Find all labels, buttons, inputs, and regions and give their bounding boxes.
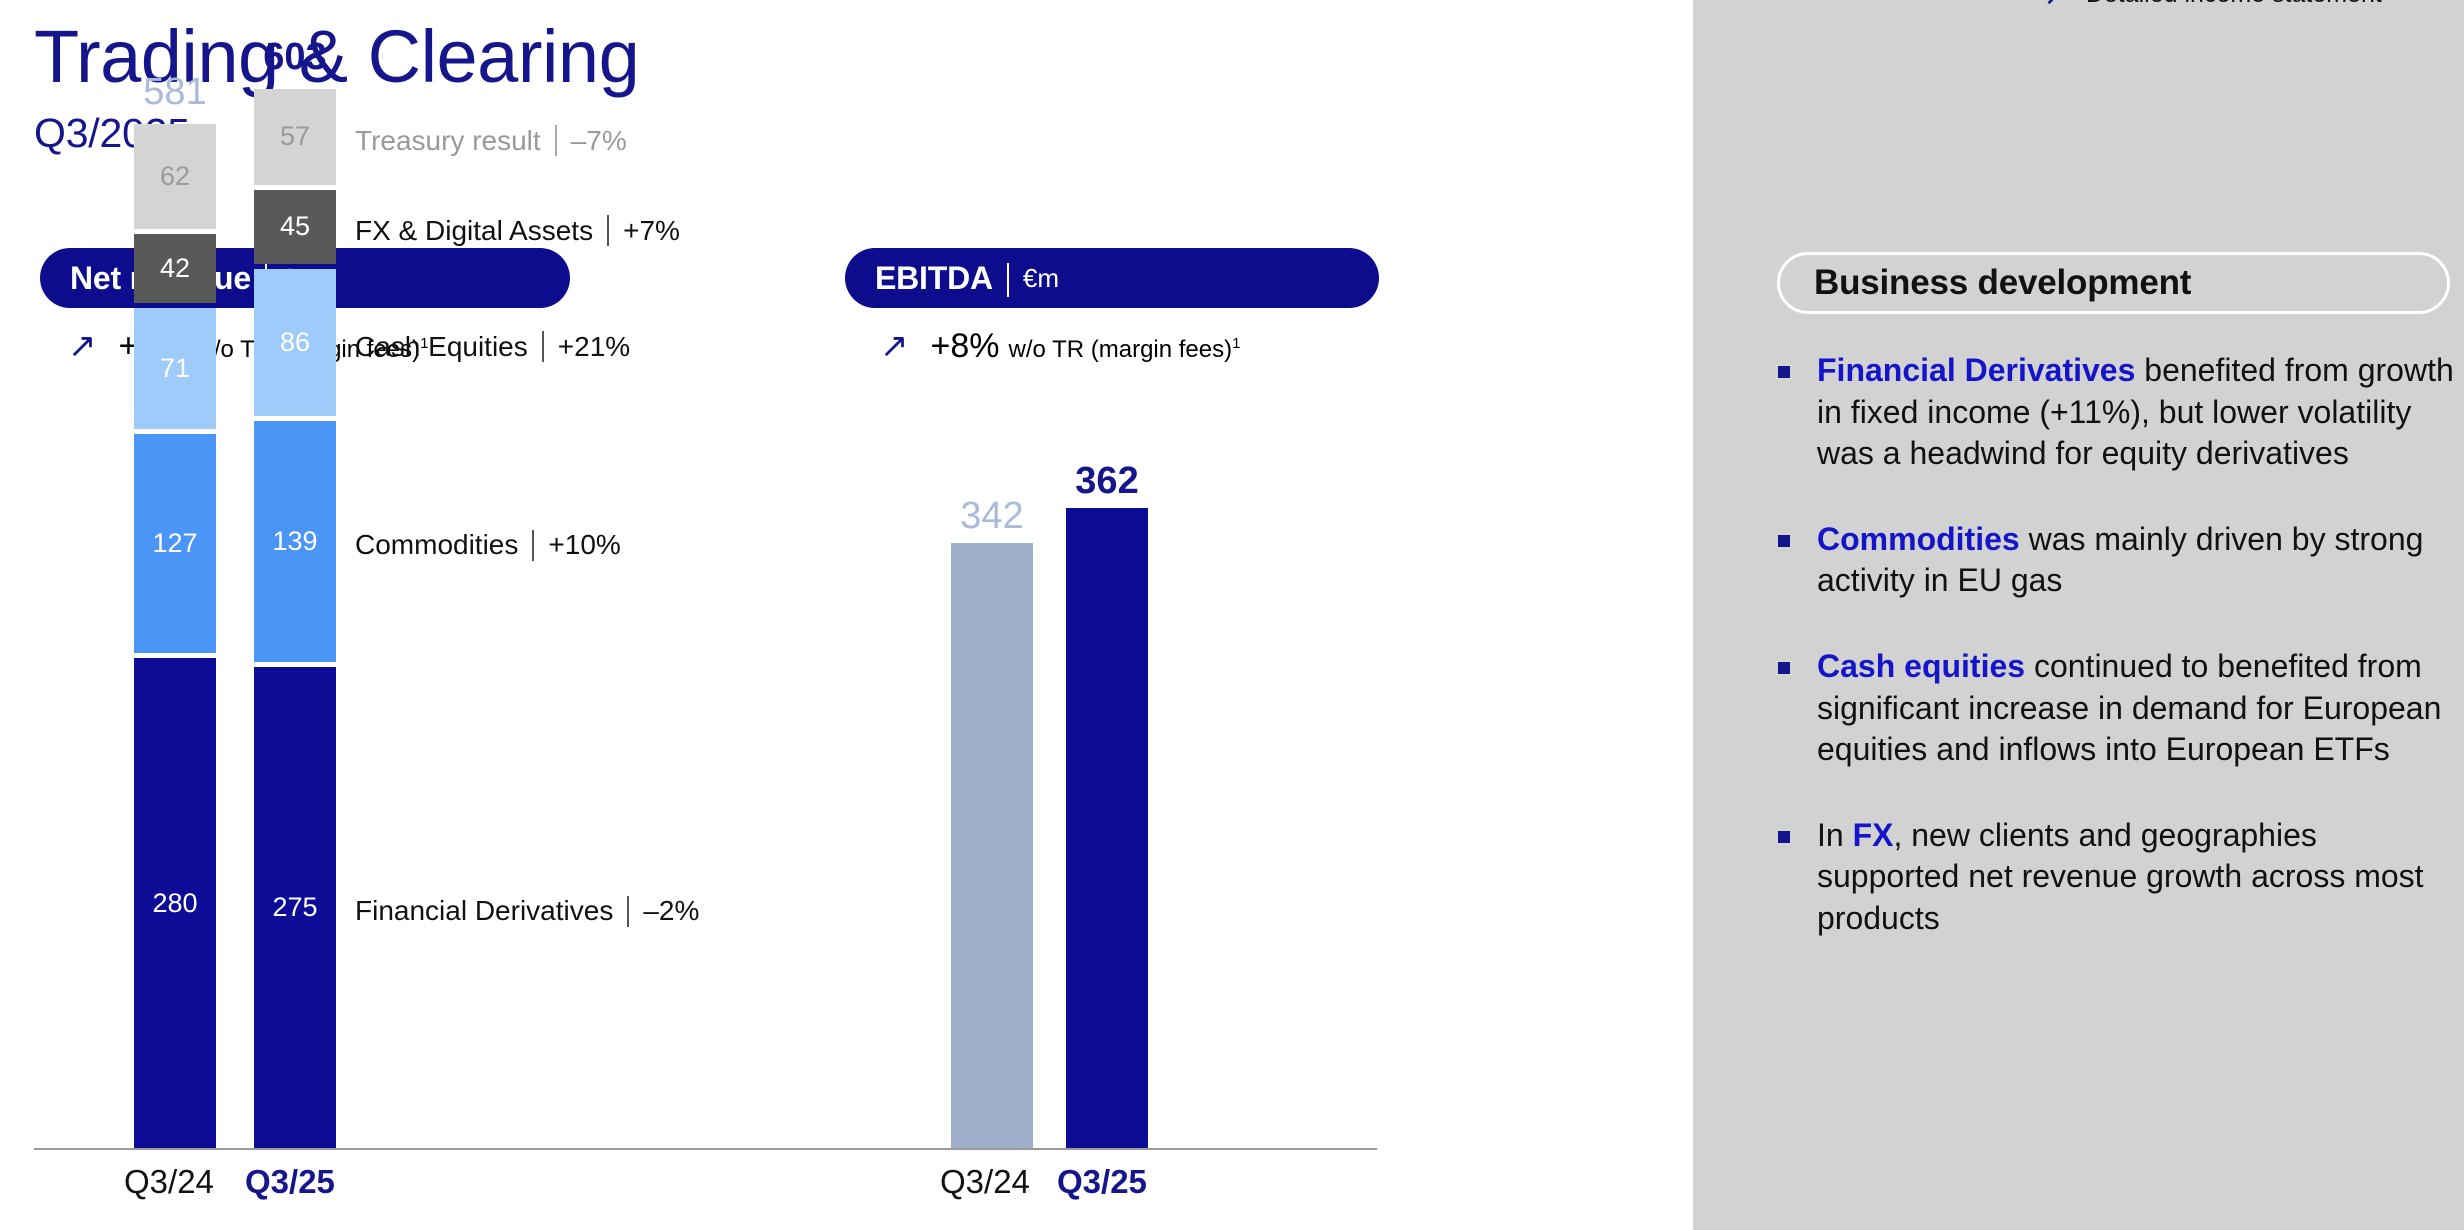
bullet-list: Financial Derivatives benefited from gro… [1777,350,2460,984]
legend-series-name: Commodities [355,529,518,561]
bar-segment-value: 62 [160,163,190,190]
bar-segment-value: 280 [152,890,197,917]
bar-total-net-revenue-q324: 581 [134,73,216,111]
bullet-item: Commodities was mainly driven by strong … [1777,519,2460,602]
bar-ebitda-q324 [951,543,1033,1148]
bar-segment-value: 45 [280,213,310,240]
bar-segment-cash-equities: 71 [134,308,216,429]
x-axis-label-ebitda-q325: Q3/25 [1057,1163,1147,1201]
bullet-marker-icon [1778,662,1790,674]
bar-ebitda-q325 [1066,508,1148,1148]
legend-series-name: Financial Derivatives [355,895,613,927]
bar-segment-value: 275 [272,894,317,921]
legend-series-name: Cash Equities [355,331,528,363]
bullet-item: Financial Derivatives benefited from gro… [1777,350,2460,475]
legend-series-delta: –2% [643,895,699,927]
bullet-text: In FX, new clients and geographies suppo… [1817,815,2460,940]
bar-total-ebitda-q325: 362 [1066,462,1148,500]
bar-segment-treasury-result: 57 [254,89,336,185]
stacked-bar-net-revenue-q325: 275139864557 [254,84,336,1148]
bar-segment-value: 42 [160,255,190,282]
bar-segment-value: 139 [272,528,317,555]
detailed-income-statement-label: Detailed income statement [2086,0,2382,9]
x-axis-label-net-revenue-q325: Q3/25 [245,1163,335,1201]
bar-segment-financial-derivatives: 275 [254,667,336,1148]
legend-separator [607,215,609,246]
bar-segment-treasury-result: 62 [134,124,216,229]
legend-series-name: Treasury result [355,125,541,157]
arrow-up-right-icon: ↗ [2043,0,2070,10]
bar-segment-value: 86 [280,329,310,356]
legend-row: Treasury result–7% [355,125,627,157]
bullet-text: Cash equities continued to benefited fro… [1817,646,2460,771]
legend-separator [532,530,534,561]
legend-series-delta: +21% [558,331,630,363]
x-axis-label-net-revenue-q324: Q3/24 [124,1163,214,1201]
bullet-text: Financial Derivatives benefited from gro… [1817,350,2460,475]
bullet-marker-icon [1778,831,1790,843]
panel-heading-label: Business development [1814,263,2191,303]
stacked-bar-net-revenue-q324: 280127714262 [134,119,216,1148]
legend-row: Cash Equities+21% [355,331,630,363]
legend-separator [555,125,557,156]
legend-series-name: FX & Digital Assets [355,215,593,247]
bar-segment-fx-digital-assets: 42 [134,234,216,303]
bar-segment-value: 127 [152,530,197,557]
bullet-marker-icon [1778,366,1790,378]
bullet-text: Commodities was mainly driven by strong … [1817,519,2460,602]
detailed-income-statement-link[interactable]: ↗ Detailed income statement [2043,0,2382,10]
bar-segment-cash-equities: 86 [254,269,336,416]
legend-row: Financial Derivatives–2% [355,895,699,927]
legend-separator [542,331,544,362]
bar-segment-commodities: 139 [254,421,336,662]
legend-separator [627,896,629,927]
bar-segment-value: 57 [280,123,310,150]
bar-segment-fx-digital-assets: 45 [254,190,336,265]
legend-series-delta: +10% [548,529,620,561]
bullet-marker-icon [1778,535,1790,547]
x-axis-label-ebitda-q324: Q3/24 [940,1163,1030,1201]
legend-series-delta: +7% [623,215,680,247]
bar-total-ebitda-q324: 342 [951,497,1033,535]
slide-root: Trading & Clearing Q3/2025 Net revenue €… [0,0,2464,1230]
bar-total-net-revenue-q325: 603 [254,38,336,76]
bullet-item: Cash equities continued to benefited fro… [1777,646,2460,771]
chart-area: 280127714262 581 Q3/24 275139864557 603 … [0,0,1693,1230]
panel-heading-pill: Business development [1777,252,2450,314]
bullet-item: In FX, new clients and geographies suppo… [1777,815,2460,940]
chart-baseline [34,1148,1377,1150]
bar-segment-commodities: 127 [134,434,216,654]
legend-row: FX & Digital Assets+7% [355,215,680,247]
legend-row: Commodities+10% [355,529,621,561]
legend-series-delta: –7% [571,125,627,157]
bar-segment-value: 71 [160,355,190,382]
business-development-panel: ↗ Detailed income statement Business dev… [1693,0,2464,1230]
bar-segment-financial-derivatives: 280 [134,658,216,1148]
